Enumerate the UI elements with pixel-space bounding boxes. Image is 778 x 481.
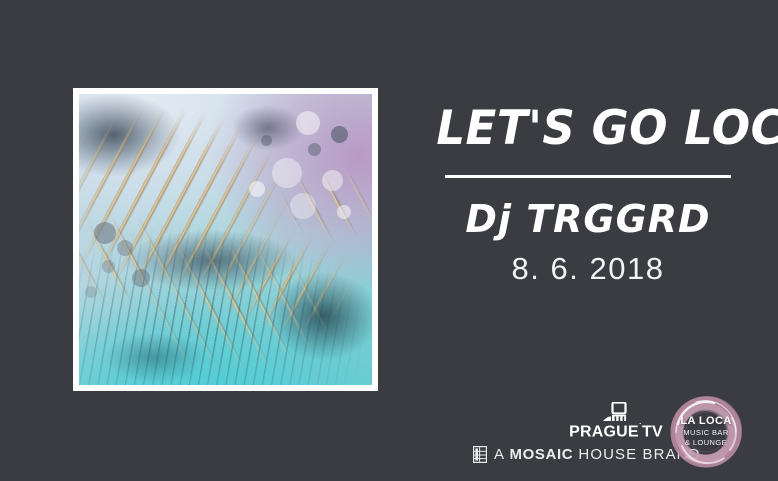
mosaic-bold: MOSAIC xyxy=(510,446,574,463)
artwork-bokeh-circle xyxy=(85,286,97,298)
prague-tv-word-suffix: TV xyxy=(642,423,663,440)
prague-tv-logo[interactable]: PRAGUE˙TV xyxy=(568,402,664,440)
la-loca-logo[interactable]: LA LOCA MUSIC BAR & LOUNGE xyxy=(662,388,750,476)
mosaic-prefix: A xyxy=(494,446,510,463)
artwork-bokeh-circle xyxy=(132,269,150,287)
artwork-bokeh-circle xyxy=(290,193,316,219)
artwork-bokeh-circle xyxy=(94,222,116,244)
artwork-bokeh-circle xyxy=(331,126,348,143)
artwork-frame xyxy=(73,88,378,391)
prague-tv-word-main: PRAGUE xyxy=(569,423,639,440)
brushstroke-ring-icon xyxy=(662,388,750,476)
event-text-block: LET'S GO LOCA Dj TRGGRD 8. 6. 2018 xyxy=(430,104,746,286)
prague-tv-wordmark: PRAGUE˙TV xyxy=(568,423,664,440)
artwork-bokeh-circle xyxy=(322,170,343,191)
building-window-icon xyxy=(473,446,487,463)
abstract-marble-artwork xyxy=(79,94,372,385)
event-date: 8. 6. 2018 xyxy=(430,252,746,286)
event-poster: LET'S GO LOCA Dj TRGGRD 8. 6. 2018 PRAGU… xyxy=(0,0,778,481)
tv-set-icon xyxy=(601,402,631,422)
artwork-bokeh-circle xyxy=(337,205,351,219)
artwork-bokeh-circle xyxy=(261,135,272,146)
artwork-bokeh-circle xyxy=(117,240,133,256)
artwork-bokeh-circle xyxy=(308,143,321,156)
title-divider xyxy=(445,175,731,178)
page-title: LET'S GO LOCA xyxy=(436,104,739,153)
artist-name: Dj TRGGRD xyxy=(430,200,746,240)
